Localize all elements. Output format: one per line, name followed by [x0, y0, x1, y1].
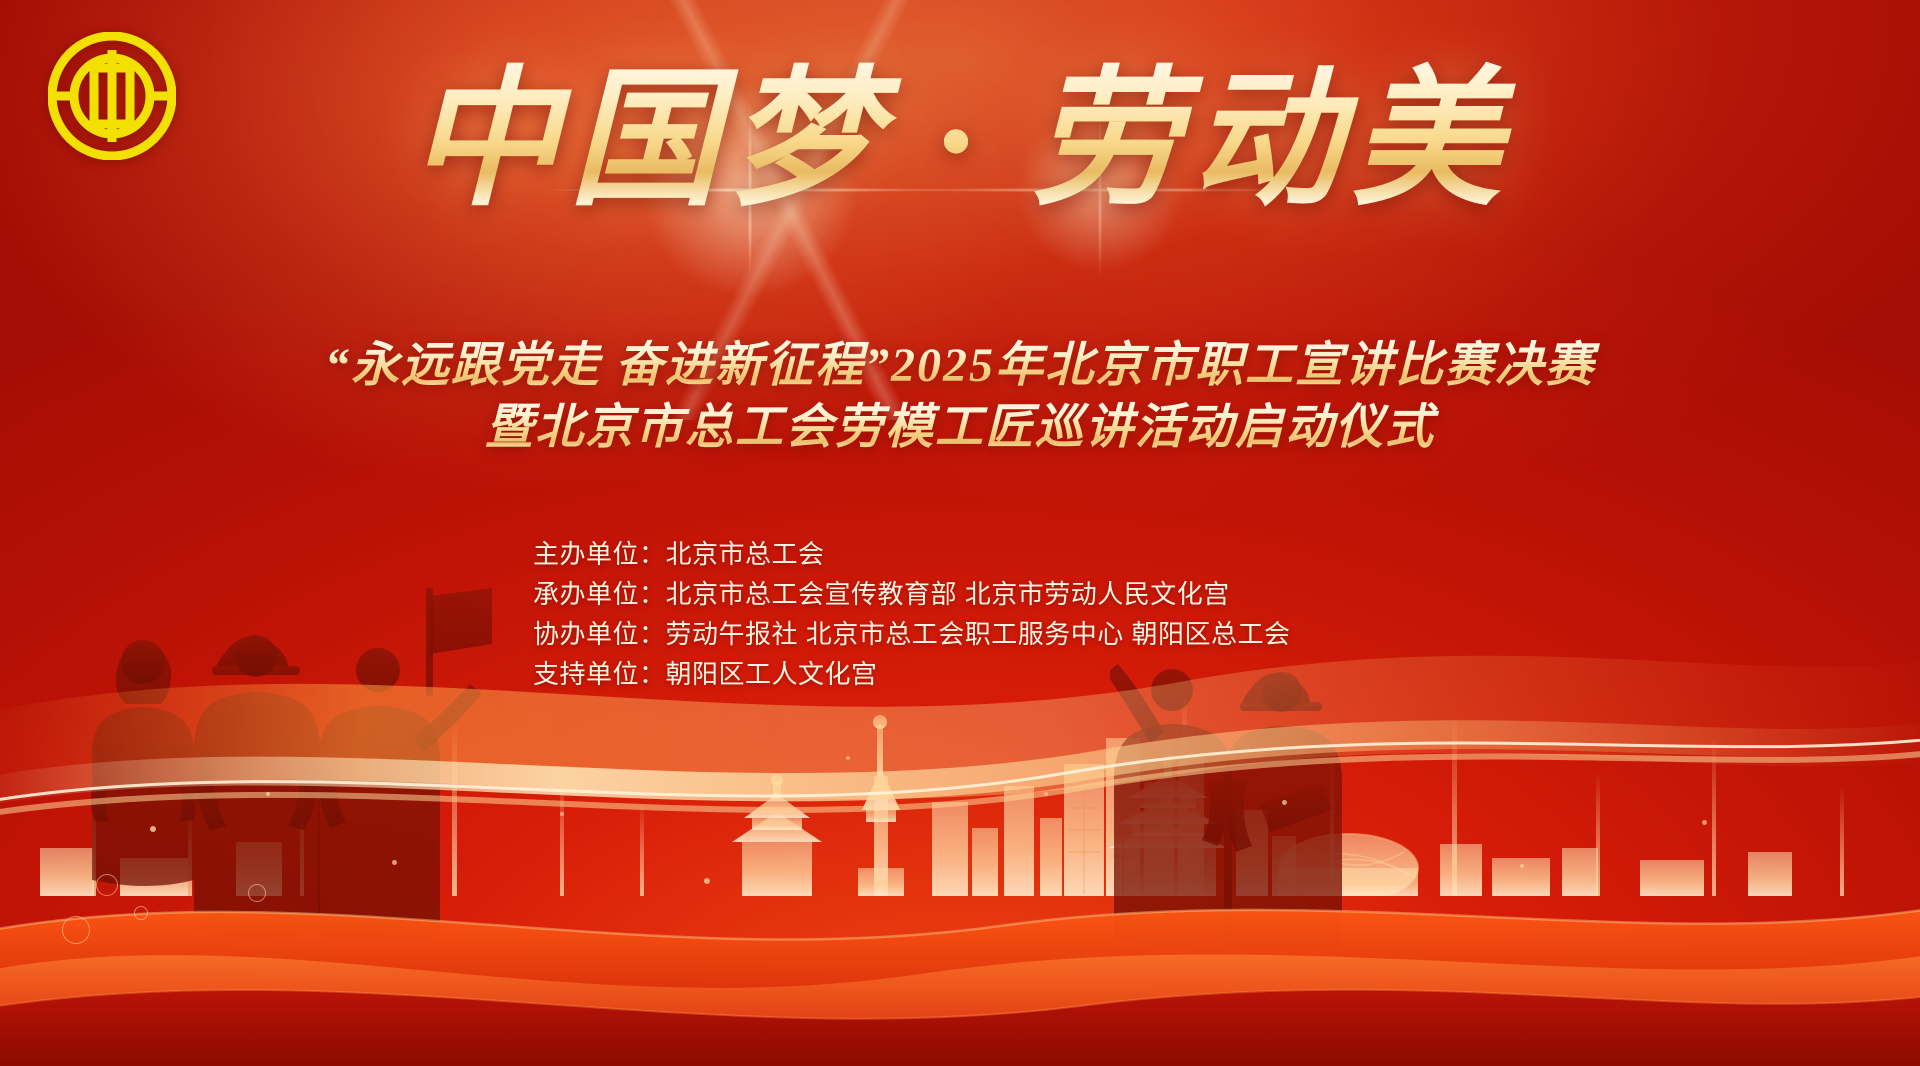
worker-pointing — [1110, 664, 1232, 946]
organizer-list: 主办单位：北京市总工会 承办单位：北京市总工会宣传教育部 北京市劳动人民文化宫 … — [533, 534, 1290, 694]
particle-ring — [96, 874, 118, 896]
subtitle-line-2: 暨北京市总工会劳模工匠巡讲活动启动仪式 — [0, 397, 1920, 459]
organizer-host: 主办单位：北京市总工会 — [533, 534, 1290, 574]
worker-with-flag — [318, 588, 492, 942]
particle — [1702, 820, 1707, 825]
particle — [392, 860, 397, 865]
subtitle-block: “永远跟党走 奋进新征程”2025年北京市职工宣讲比赛决赛 暨北京市总工会劳模工… — [0, 335, 1920, 459]
particle — [150, 826, 156, 832]
particle-ring — [62, 916, 90, 944]
organizer-supporter: 支持单位：朝阳区工人文化宫 — [533, 654, 1290, 694]
particle — [846, 756, 850, 760]
organizer-co-host: 协办单位：劳动午报社 北京市总工会职工服务中心 朝阳区总工会 — [533, 614, 1290, 654]
particle — [1282, 800, 1287, 805]
particle-ring — [248, 884, 266, 902]
worker-woman — [91, 640, 197, 886]
particle — [704, 878, 710, 884]
particle — [1520, 864, 1524, 868]
particle-ring — [134, 906, 148, 920]
particle — [1044, 792, 1048, 796]
subtitle-line-1: “永远跟党走 奋进新征程”2025年北京市职工宣讲比赛决赛 — [0, 335, 1920, 397]
particle — [266, 792, 270, 796]
main-title: 中国梦 · 劳动美 — [0, 48, 1920, 236]
worker-silhouettes-left — [78, 588, 498, 948]
poster-stage: 中国梦 · 劳动美 “永远跟党走 奋进新征程”2025年北京市职工宣讲比赛决赛 … — [0, 0, 1920, 1066]
particle — [560, 812, 564, 816]
worker-hardhat — [194, 635, 320, 938]
worker-hardhat-tablet — [1224, 672, 1342, 948]
organizer-undertaker: 承办单位：北京市总工会宣传教育部 北京市劳动人民文化宫 — [533, 574, 1290, 614]
